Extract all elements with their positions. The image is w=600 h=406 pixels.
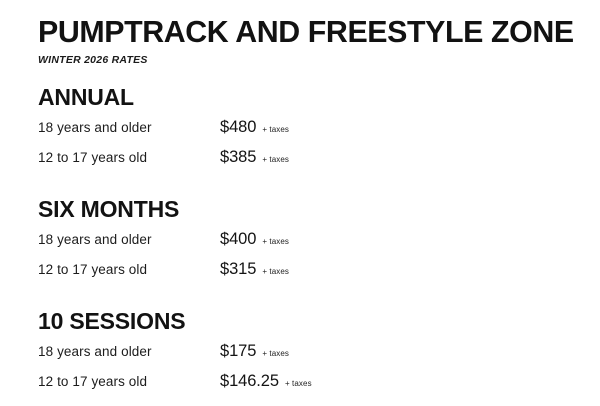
rate-list: 18 years and older $400 + taxes 12 to 17… xyxy=(38,230,576,290)
rate-label: 18 years and older xyxy=(38,232,220,247)
rate-row: 12 to 17 years old $385 + taxes xyxy=(38,148,576,178)
rate-row: 12 to 17 years old $146.25 + taxes xyxy=(38,372,576,402)
rate-amount: $146.25 xyxy=(220,372,279,391)
rate-taxes-note: + taxes xyxy=(262,237,289,246)
rate-section-ten-sessions: 10 SESSIONS 18 years and older $175 + ta… xyxy=(38,309,576,402)
rate-list: 18 years and older $480 + taxes 12 to 17… xyxy=(38,118,576,178)
rate-row: 18 years and older $400 + taxes xyxy=(38,230,576,260)
rate-label: 18 years and older xyxy=(38,120,220,135)
rate-amount: $480 xyxy=(220,118,256,137)
rate-amount: $385 xyxy=(220,148,256,167)
document-header: PUMPTRACK AND FREESTYLE ZONE WINTER 2026… xyxy=(38,0,576,66)
rate-amount: $400 xyxy=(220,230,256,249)
section-heading: ANNUAL xyxy=(38,85,576,109)
pricing-sheet: PUMPTRACK AND FREESTYLE ZONE WINTER 2026… xyxy=(0,0,600,406)
rate-section-six-months: SIX MONTHS 18 years and older $400 + tax… xyxy=(38,197,576,290)
rate-label: 12 to 17 years old xyxy=(38,262,220,277)
rate-list: 18 years and older $175 + taxes 12 to 17… xyxy=(38,342,576,402)
rate-taxes-note: + taxes xyxy=(285,379,312,388)
rate-label: 12 to 17 years old xyxy=(38,150,220,165)
page-subtitle: WINTER 2026 RATES xyxy=(38,54,576,66)
rate-row: 18 years and older $480 + taxes xyxy=(38,118,576,148)
rate-price: $385 + taxes xyxy=(220,148,289,167)
rate-taxes-note: + taxes xyxy=(262,349,289,358)
rate-taxes-note: + taxes xyxy=(262,125,289,134)
rate-price: $315 + taxes xyxy=(220,260,289,279)
rate-price: $400 + taxes xyxy=(220,230,289,249)
rate-row: 12 to 17 years old $315 + taxes xyxy=(38,260,576,290)
rate-price: $480 + taxes xyxy=(220,118,289,137)
rate-row: 18 years and older $175 + taxes xyxy=(38,342,576,372)
page-title: PUMPTRACK AND FREESTYLE ZONE xyxy=(38,17,573,48)
rate-label: 12 to 17 years old xyxy=(38,374,220,389)
rate-price: $146.25 + taxes xyxy=(220,372,312,391)
rate-taxes-note: + taxes xyxy=(262,155,289,164)
rate-price: $175 + taxes xyxy=(220,342,289,361)
rate-section-annual: ANNUAL 18 years and older $480 + taxes 1… xyxy=(38,85,576,178)
rate-amount: $175 xyxy=(220,342,256,361)
section-heading: 10 SESSIONS xyxy=(38,309,576,333)
rate-taxes-note: + taxes xyxy=(262,267,289,276)
rate-amount: $315 xyxy=(220,260,256,279)
section-heading: SIX MONTHS xyxy=(38,197,576,221)
rate-label: 18 years and older xyxy=(38,344,220,359)
